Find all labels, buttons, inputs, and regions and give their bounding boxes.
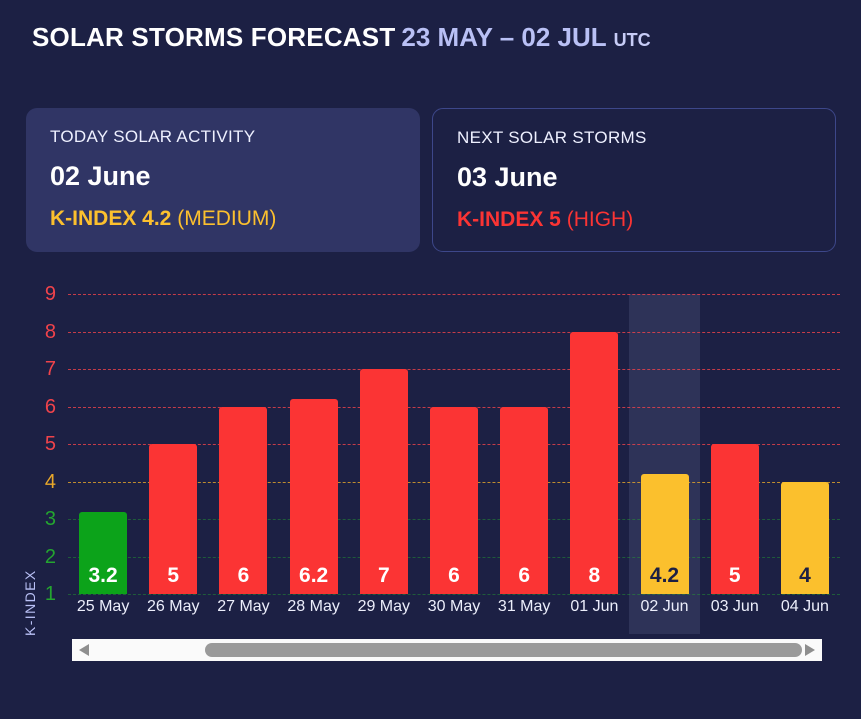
chart-bar-value-label: 7 <box>360 564 408 588</box>
x-axis-tick-label[interactable]: 29 May <box>349 598 419 616</box>
card-today-kindex-value: K-INDEX 4.2 <box>50 207 171 230</box>
chart-bar-value-label: 4 <box>781 564 829 588</box>
horizontal-scrollbar[interactable] <box>72 639 822 661</box>
chart-bar[interactable]: 8 <box>570 332 618 595</box>
card-next-kindex-value: K-INDEX 5 <box>457 208 561 231</box>
chart-bar[interactable]: 6.2 <box>290 399 338 594</box>
chart-bar-value-label: 6 <box>500 564 548 588</box>
x-axis-labels: 25 May26 May27 May28 May29 May30 May31 M… <box>68 598 840 624</box>
page-title: SOLAR STORMS FORECAST23 MAY – 02 JULUTC <box>32 22 651 53</box>
y-axis-labels: 123456789 <box>0 294 56 594</box>
page-title-timezone: UTC <box>614 30 651 50</box>
y-axis-title: K-INDEX <box>22 569 38 636</box>
card-next-kindex: K-INDEX 5 (HIGH) <box>457 208 633 232</box>
y-axis-tick-label: 2 <box>16 547 56 567</box>
x-axis-tick-label[interactable]: 26 May <box>138 598 208 616</box>
card-today-label: TODAY SOLAR ACTIVITY <box>50 127 255 147</box>
chart-bar[interactable]: 6 <box>500 407 548 595</box>
x-axis-tick-label[interactable]: 27 May <box>208 598 278 616</box>
gridline <box>68 332 840 333</box>
chart-bar[interactable]: 5 <box>711 444 759 594</box>
chart-bar-value-label: 6 <box>219 564 267 588</box>
chart-bar[interactable]: 4.2 <box>641 474 689 594</box>
solar-storms-forecast-page: SOLAR STORMS FORECAST23 MAY – 02 JULUTC … <box>0 0 861 719</box>
x-axis-tick-label[interactable]: 25 May <box>68 598 138 616</box>
summary-cards: TODAY SOLAR ACTIVITY 02 June K-INDEX 4.2… <box>26 108 836 252</box>
chart-bar[interactable]: 7 <box>360 369 408 594</box>
x-axis-tick-label[interactable]: 03 Jun <box>700 598 770 616</box>
card-next-solar-storms[interactable]: NEXT SOLAR STORMS 03 June K-INDEX 5 (HIG… <box>432 108 836 252</box>
x-axis-tick-label[interactable]: 02 Jun <box>629 598 699 616</box>
x-axis-tick-label[interactable]: 01 Jun <box>559 598 629 616</box>
card-today-severity: (MEDIUM) <box>177 207 276 230</box>
x-axis-tick-label[interactable]: 31 May <box>489 598 559 616</box>
scroll-right-arrow-icon[interactable] <box>805 644 815 656</box>
y-axis-tick-label: 6 <box>16 397 56 417</box>
k-index-bar-chart: 123456789 3.2566.276684.254 25 May26 May… <box>0 280 861 640</box>
y-axis-tick-label: 3 <box>16 509 56 529</box>
x-axis-tick-label[interactable]: 30 May <box>419 598 489 616</box>
card-next-date: 03 June <box>457 162 558 193</box>
chart-bar-value-label: 6 <box>430 564 478 588</box>
chart-bar[interactable]: 5 <box>149 444 197 594</box>
chart-bar-value-label: 5 <box>711 564 759 588</box>
y-axis-tick-label: 7 <box>16 359 56 379</box>
card-today-kindex: K-INDEX 4.2 (MEDIUM) <box>50 207 276 231</box>
chart-bar[interactable]: 6 <box>430 407 478 595</box>
chart-bar-value-label: 8 <box>570 564 618 588</box>
page-title-date-range: 23 MAY – 02 JUL <box>401 22 606 52</box>
gridline <box>68 369 840 370</box>
y-axis-tick-label: 8 <box>16 322 56 342</box>
card-next-severity: (HIGH) <box>567 208 634 231</box>
gridline <box>68 594 840 595</box>
chart-bar[interactable]: 4 <box>781 482 829 595</box>
y-axis-tick-label: 5 <box>16 434 56 454</box>
y-axis-tick-label: 4 <box>16 472 56 492</box>
chart-bar-value-label: 6.2 <box>290 564 338 588</box>
chart-bar[interactable]: 3.2 <box>79 512 127 595</box>
card-next-label: NEXT SOLAR STORMS <box>457 128 647 148</box>
card-today-date: 02 June <box>50 161 151 192</box>
gridline <box>68 294 840 295</box>
x-axis-tick-label[interactable]: 04 Jun <box>770 598 840 616</box>
chart-bar-value-label: 3.2 <box>79 564 127 588</box>
y-axis-tick-label: 9 <box>16 284 56 304</box>
scroll-left-arrow-icon[interactable] <box>79 644 89 656</box>
chart-bar-value-label: 4.2 <box>641 564 689 588</box>
x-axis-tick-label[interactable]: 28 May <box>279 598 349 616</box>
card-today-solar-activity[interactable]: TODAY SOLAR ACTIVITY 02 June K-INDEX 4.2… <box>26 108 420 252</box>
scrollbar-thumb[interactable] <box>205 643 802 657</box>
chart-bar[interactable]: 6 <box>219 407 267 595</box>
page-title-main: SOLAR STORMS FORECAST <box>32 22 395 52</box>
chart-plot-area: 3.2566.276684.254 <box>68 294 840 594</box>
chart-bar-value-label: 5 <box>149 564 197 588</box>
